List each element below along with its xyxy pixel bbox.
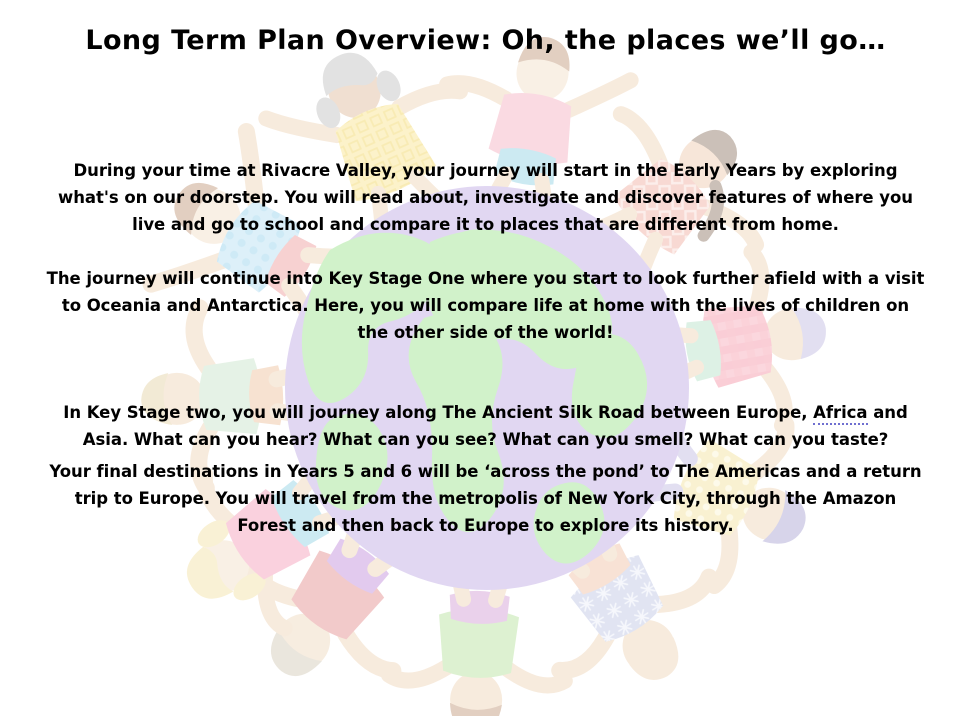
- paragraph-ks2-before: In Key Stage two, you will journey along…: [63, 403, 813, 422]
- slide-text-layer: Long Term Plan Overview: Oh, the places …: [0, 0, 971, 716]
- slide-canvas: Long Term Plan Overview: Oh, the places …: [0, 0, 971, 716]
- spellcheck-word-africa: Africa: [813, 403, 867, 425]
- paragraph-years-five-six: Your final destinations in Years 5 and 6…: [46, 458, 925, 539]
- page-title: Long Term Plan Overview: Oh, the places …: [0, 25, 971, 56]
- paragraph-early-years: During your time at Rivacre Valley, your…: [46, 157, 925, 238]
- paragraph-key-stage-one: The journey will continue into Key Stage…: [46, 265, 925, 346]
- paragraph-key-stage-two: In Key Stage two, you will journey along…: [46, 399, 925, 453]
